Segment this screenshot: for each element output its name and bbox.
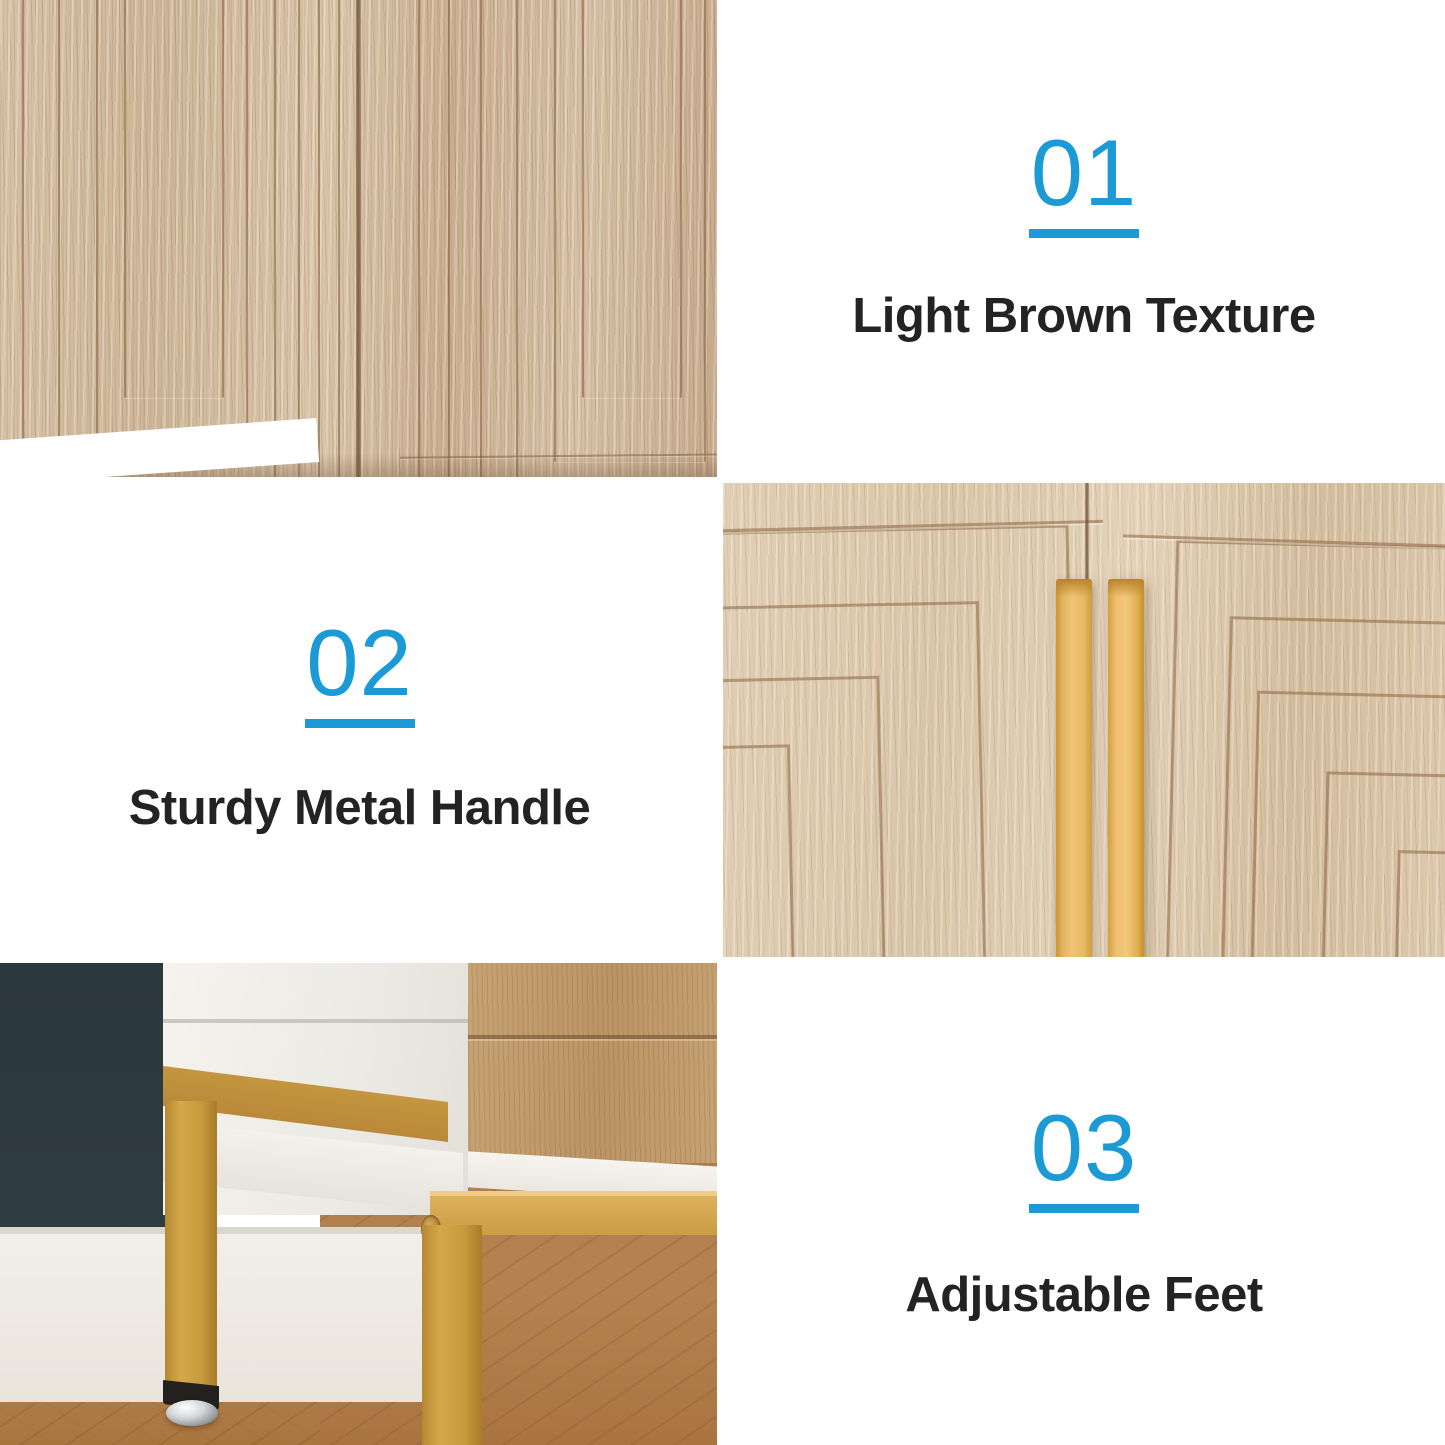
cabinet-side-wood-panel [430,963,719,1163]
feature-caption-02: Sturdy Metal Handle [129,780,591,836]
metal-handle-left-top-cap [1056,579,1092,597]
white-skirting-board [0,1227,470,1402]
teal-wall [0,963,168,1251]
feature-number-block-01: 01 [1029,128,1139,238]
feature-image-sturdy-metal-handle [723,483,1445,960]
feature-image-adjustable-feet [0,963,719,1445]
feature-number-block-02: 02 [305,618,415,728]
door-groove-inner-right [582,0,682,398]
grid-vertical-seam [717,0,723,1445]
metal-handle-right-top-cap [1108,579,1144,597]
door-center-seam [356,0,361,479]
feature-grid: 01 Light Brown Texture 02 Sturdy Metal H… [0,0,1445,1445]
grid-horizontal-seam-1 [0,477,1445,483]
feature-number-block-03: 03 [1029,1103,1139,1213]
handle-step-5-right [1392,850,1445,960]
metal-handle-left[interactable] [1056,579,1092,960]
feature-number-01: 01 [1031,128,1138,217]
feature-number-underline-02 [305,719,415,728]
feature-caption-03: Adjustable Feet [905,1267,1262,1323]
grid-horizontal-seam-2 [0,957,1445,963]
feature-number-underline-01 [1029,229,1139,238]
adjustable-foot-back [166,1400,218,1426]
feature-number-03: 03 [1031,1103,1138,1192]
gold-frame-side-rail-highlight [430,1191,719,1196]
gold-leg-back [165,1101,217,1401]
feature-image-light-brown-texture [0,0,719,479]
metal-handle-right[interactable] [1108,579,1144,960]
cabinet-front-panel-seam [163,1019,468,1023]
feature-number-underline-03 [1029,1204,1139,1213]
feature-text-01: 01 Light Brown Texture [723,0,1445,479]
door-groove-inner-left [124,0,224,398]
feature-text-02: 02 Sturdy Metal Handle [0,483,719,960]
cabinet-side-wood-groove [430,1035,719,1039]
gold-leg-front [422,1225,482,1445]
handle-step-4-left [723,744,796,960]
white-skirting-board-top-edge [0,1227,470,1234]
feature-caption-01: Light Brown Texture [852,288,1315,344]
feature-text-03: 03 Adjustable Feet [723,963,1445,1445]
feature-number-02: 02 [306,618,413,707]
